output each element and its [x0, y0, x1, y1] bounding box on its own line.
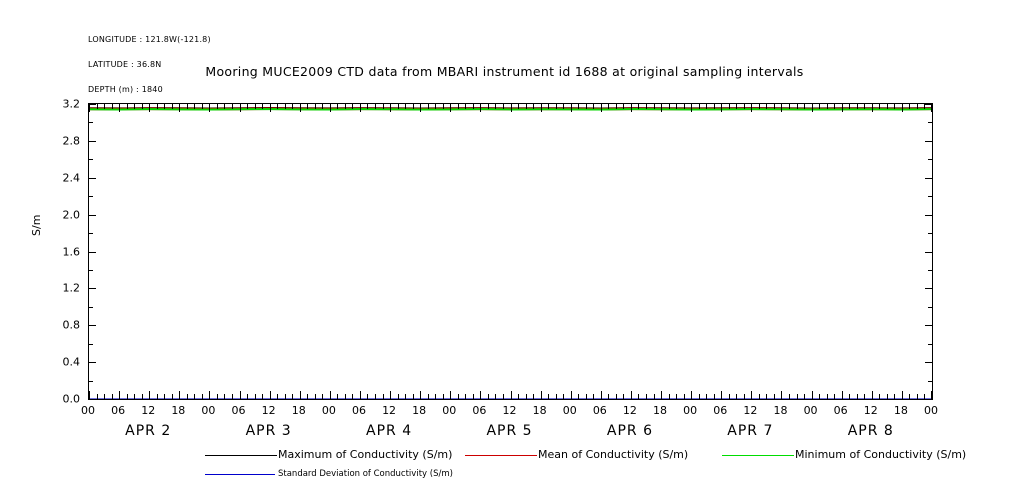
x-axis-hour-label: 12 [864, 404, 878, 417]
y-axis-minor-tick [89, 381, 93, 382]
x-axis-minor-tick [375, 394, 376, 399]
x-axis-minor-tick [413, 394, 414, 399]
x-axis-major-tick [751, 391, 752, 399]
x-axis-minor-tick [97, 104, 98, 109]
x-axis-minor-tick [443, 104, 444, 109]
y-axis-tick-label: 1.6 [63, 245, 81, 258]
x-axis-minor-tick [766, 104, 767, 109]
x-axis-minor-tick [104, 394, 105, 399]
x-axis-major-tick [661, 104, 662, 112]
x-axis-minor-tick [164, 104, 165, 109]
x-axis-hour-label: 18 [292, 404, 306, 417]
x-axis-minor-tick [533, 104, 534, 109]
x-axis-minor-tick [503, 394, 504, 399]
x-axis-major-tick [631, 104, 632, 112]
x-axis-minor-tick [352, 104, 353, 109]
x-axis-hour-label: 18 [773, 404, 787, 417]
x-axis-day-label: APR 8 [848, 423, 894, 439]
x-axis-minor-tick [232, 104, 233, 109]
x-axis-minor-tick [669, 394, 670, 399]
x-axis-minor-tick [706, 394, 707, 399]
x-axis-minor-tick [488, 104, 489, 109]
x-axis-minor-tick [345, 394, 346, 399]
x-axis-minor-tick [699, 394, 700, 399]
x-axis-minor-tick [247, 104, 248, 109]
x-axis-minor-tick [789, 394, 790, 399]
legend-item: Standard Deviation of Conductivity (S/m) [0, 467, 1009, 481]
x-axis-minor-tick [894, 104, 895, 109]
x-axis-major-tick [420, 104, 421, 112]
x-axis-minor-tick [398, 104, 399, 109]
x-axis-minor-tick [172, 394, 173, 399]
x-axis-major-tick [270, 104, 271, 112]
x-axis-minor-tick [164, 394, 165, 399]
x-axis-hour-label: 06 [232, 404, 246, 417]
x-axis-minor-tick [413, 104, 414, 109]
x-axis-minor-tick [917, 394, 918, 399]
y-axis-major-tick [925, 215, 932, 216]
x-axis-major-tick [571, 104, 572, 112]
x-axis-minor-tick [473, 394, 474, 399]
x-axis-major-tick [812, 104, 813, 112]
x-axis-minor-tick [443, 394, 444, 399]
x-axis-minor-tick [232, 394, 233, 399]
x-axis-major-tick [691, 391, 692, 399]
y-axis-major-tick [925, 178, 932, 179]
y-axis-minor-tick [89, 159, 93, 160]
plot-area [88, 103, 933, 400]
x-axis-minor-tick [202, 394, 203, 399]
x-axis-major-tick [721, 104, 722, 112]
x-axis-minor-tick [646, 104, 647, 109]
x-axis-major-tick [631, 391, 632, 399]
y-axis-minor-tick [928, 307, 932, 308]
x-axis-major-tick [842, 104, 843, 112]
x-axis-minor-tick [383, 104, 384, 109]
x-axis-minor-tick [857, 394, 858, 399]
legend-item: Minimum of Conductivity (S/m) [0, 448, 1009, 462]
chart-legend: Maximum of Conductivity (S/m)Mean of Con… [0, 445, 1009, 491]
y-axis-tick-label: 0.4 [63, 356, 81, 369]
x-axis-minor-tick [676, 104, 677, 109]
x-axis-minor-tick [322, 394, 323, 399]
x-axis-major-tick [751, 104, 752, 112]
x-axis-minor-tick [819, 104, 820, 109]
x-axis-minor-tick [277, 104, 278, 109]
x-axis-minor-tick [202, 104, 203, 109]
x-axis-minor-tick [736, 104, 737, 109]
x-axis-hour-label: 12 [141, 404, 155, 417]
x-axis-minor-tick [262, 104, 263, 109]
x-axis-major-tick [812, 391, 813, 399]
x-axis-major-tick [209, 391, 210, 399]
x-axis-hour-label: 12 [503, 404, 517, 417]
x-axis-minor-tick [849, 394, 850, 399]
x-axis-hour-label: 12 [382, 404, 396, 417]
x-axis-minor-tick [669, 104, 670, 109]
y-axis-major-tick [89, 104, 96, 105]
x-axis-minor-tick [473, 104, 474, 109]
x-axis-minor-tick [638, 394, 639, 399]
x-axis-minor-tick [638, 104, 639, 109]
metadata-depth: DEPTH (m) : 1840 [88, 86, 211, 94]
x-axis-minor-tick [699, 104, 700, 109]
x-axis-hour-label: 18 [533, 404, 547, 417]
x-axis-minor-tick [315, 394, 316, 399]
x-axis-major-tick [541, 104, 542, 112]
x-axis-minor-tick [405, 104, 406, 109]
x-axis-minor-tick [924, 394, 925, 399]
x-axis-minor-tick [623, 394, 624, 399]
x-axis-hour-label: 00 [81, 404, 95, 417]
x-axis-day-label: APR 7 [727, 423, 773, 439]
y-axis-major-tick [925, 288, 932, 289]
y-axis-tick-label: 2.4 [63, 171, 81, 184]
x-axis-minor-tick [172, 104, 173, 109]
x-axis-minor-tick [827, 394, 828, 399]
x-axis-minor-tick [262, 394, 263, 399]
x-axis-major-tick [601, 104, 602, 112]
x-axis-minor-tick [593, 104, 594, 109]
y-axis-tick-label: 3.2 [63, 98, 81, 111]
x-axis-major-tick [721, 391, 722, 399]
y-axis-minor-tick [928, 344, 932, 345]
y-axis-minor-tick [89, 344, 93, 345]
y-axis-tick-label: 0.8 [63, 319, 81, 332]
x-axis-major-tick [601, 391, 602, 399]
x-axis-minor-tick [104, 104, 105, 109]
x-axis-major-tick [300, 391, 301, 399]
x-axis-minor-tick [255, 394, 256, 399]
x-axis-minor-tick [465, 394, 466, 399]
x-axis-minor-tick [142, 394, 143, 399]
x-axis-major-tick [330, 391, 331, 399]
x-axis-minor-tick [112, 104, 113, 109]
x-axis-minor-tick [285, 104, 286, 109]
x-axis-minor-tick [804, 104, 805, 109]
x-axis-minor-tick [563, 394, 564, 399]
x-axis-hour-label: 18 [171, 404, 185, 417]
x-axis-major-tick [149, 104, 150, 112]
y-axis-major-tick [89, 178, 96, 179]
x-axis-hour-label: 18 [894, 404, 908, 417]
x-axis-minor-tick [157, 104, 158, 109]
x-axis-hour-label: 00 [683, 404, 697, 417]
x-axis-minor-tick [465, 104, 466, 109]
x-axis-major-tick [420, 391, 421, 399]
chart-title: Mooring MUCE2009 CTD data from MBARI ins… [0, 64, 1009, 79]
x-axis-major-tick [450, 104, 451, 112]
x-axis-minor-tick [864, 104, 865, 109]
x-axis-hour-label: 00 [804, 404, 818, 417]
x-axis-day-label: APR 2 [125, 423, 171, 439]
y-axis-minor-tick [928, 159, 932, 160]
x-axis-minor-tick [217, 104, 218, 109]
x-axis-major-tick [119, 391, 120, 399]
y-axis-major-tick [925, 325, 932, 326]
x-axis-major-tick [450, 391, 451, 399]
x-axis-minor-tick [654, 104, 655, 109]
x-axis-minor-tick [894, 394, 895, 399]
x-axis-minor-tick [255, 104, 256, 109]
y-axis-tick-label: 0.0 [63, 393, 81, 406]
x-axis-day-label: APR 3 [246, 423, 292, 439]
x-axis-minor-tick [428, 104, 429, 109]
x-axis-hour-label: 18 [412, 404, 426, 417]
x-axis-minor-tick [556, 104, 557, 109]
x-axis-major-tick [902, 104, 903, 112]
x-axis-minor-tick [819, 394, 820, 399]
x-axis-major-tick [872, 391, 873, 399]
x-axis-minor-tick [766, 394, 767, 399]
x-axis-major-tick [842, 391, 843, 399]
x-axis-hour-label: 06 [593, 404, 607, 417]
y-axis-minor-tick [89, 307, 93, 308]
x-axis-hour-label: 00 [563, 404, 577, 417]
x-axis-major-tick [511, 391, 512, 399]
x-axis-major-tick [902, 391, 903, 399]
x-axis-hour-label: 18 [653, 404, 667, 417]
x-axis-major-tick [360, 391, 361, 399]
x-axis-major-tick [360, 104, 361, 112]
x-axis-hour-label: 00 [924, 404, 938, 417]
x-axis-major-tick [661, 391, 662, 399]
x-axis-minor-tick [405, 394, 406, 399]
y-axis-major-tick [925, 141, 932, 142]
x-axis-minor-tick [127, 394, 128, 399]
x-axis-minor-tick [194, 104, 195, 109]
x-axis-minor-tick [879, 104, 880, 109]
y-axis-major-tick [89, 288, 96, 289]
x-axis-hour-label: 06 [352, 404, 366, 417]
x-axis-minor-tick [654, 394, 655, 399]
y-axis-minor-tick [928, 233, 932, 234]
x-axis-hour-label: 12 [623, 404, 637, 417]
x-axis-minor-tick [435, 104, 436, 109]
x-axis-hour-label: 06 [472, 404, 486, 417]
x-axis-minor-tick [887, 394, 888, 399]
y-axis-tick-label: 2.8 [63, 134, 81, 147]
x-axis-minor-tick [623, 104, 624, 109]
x-axis-minor-tick [714, 394, 715, 399]
x-axis-minor-tick [804, 394, 805, 399]
x-axis-major-tick [390, 104, 391, 112]
x-axis-major-tick [179, 104, 180, 112]
x-axis-minor-tick [857, 104, 858, 109]
x-axis-major-tick [691, 104, 692, 112]
x-axis-minor-tick [736, 394, 737, 399]
x-axis-major-tick [781, 391, 782, 399]
x-axis-hour-label: 00 [322, 404, 336, 417]
x-axis-major-tick [270, 391, 271, 399]
x-axis-minor-tick [616, 104, 617, 109]
x-axis-minor-tick [586, 104, 587, 109]
x-axis-major-tick [149, 391, 150, 399]
x-axis-minor-tick [307, 394, 308, 399]
x-axis-minor-tick [134, 394, 135, 399]
y-axis-minor-tick [89, 233, 93, 234]
x-axis-minor-tick [383, 394, 384, 399]
y-axis-minor-tick [89, 270, 93, 271]
x-axis-minor-tick [503, 104, 504, 109]
x-axis-major-tick [931, 104, 932, 112]
x-axis-minor-tick [774, 104, 775, 109]
x-axis-minor-tick [849, 104, 850, 109]
x-axis-minor-tick [909, 104, 910, 109]
x-axis-minor-tick [556, 394, 557, 399]
x-axis-minor-tick [533, 394, 534, 399]
x-axis-minor-tick [834, 104, 835, 109]
x-axis-minor-tick [352, 394, 353, 399]
x-axis-minor-tick [187, 104, 188, 109]
x-axis-minor-tick [827, 104, 828, 109]
x-axis-major-tick [330, 104, 331, 112]
x-axis-minor-tick [292, 104, 293, 109]
x-axis-hour-label: 00 [442, 404, 456, 417]
x-axis-minor-tick [864, 394, 865, 399]
y-axis-major-tick [89, 325, 96, 326]
legend-label: Minimum of Conductivity (S/m) [795, 448, 966, 461]
x-axis-minor-tick [194, 394, 195, 399]
x-axis-hour-label: 06 [111, 404, 125, 417]
x-axis-major-tick [571, 391, 572, 399]
y-axis-minor-tick [89, 122, 93, 123]
x-axis-minor-tick [398, 394, 399, 399]
x-axis-minor-tick [563, 104, 564, 109]
x-axis-minor-tick [458, 394, 459, 399]
x-axis-minor-tick [924, 104, 925, 109]
x-axis-minor-tick [526, 104, 527, 109]
x-axis-minor-tick [367, 394, 368, 399]
x-axis-major-tick [300, 104, 301, 112]
x-axis-major-tick [240, 104, 241, 112]
x-axis-major-tick [209, 104, 210, 112]
x-axis-major-tick [541, 391, 542, 399]
x-axis-minor-tick [714, 104, 715, 109]
x-axis-minor-tick [729, 104, 730, 109]
x-axis-minor-tick [608, 394, 609, 399]
y-axis-tick-labels: 0.00.40.81.21.62.02.42.83.2 [40, 103, 80, 400]
y-axis-major-tick [89, 362, 96, 363]
legend-label: Standard Deviation of Conductivity (S/m) [278, 469, 453, 479]
x-axis-minor-tick [608, 104, 609, 109]
y-axis-minor-tick [928, 381, 932, 382]
x-axis-minor-tick [676, 394, 677, 399]
x-axis-minor-tick [759, 394, 760, 399]
x-axis-day-labels: APR 2APR 3APR 4APR 5APR 6APR 7APR 8 [88, 423, 933, 441]
y-axis-tick-label: 2.0 [63, 208, 81, 221]
x-axis-minor-tick [337, 394, 338, 399]
y-axis-minor-tick [928, 122, 932, 123]
x-axis-major-tick [931, 391, 932, 399]
x-axis-minor-tick [744, 394, 745, 399]
x-axis-minor-tick [428, 394, 429, 399]
x-axis-minor-tick [495, 394, 496, 399]
metadata-longitude: LONGITUDE : 121.8W(-121.8) [88, 36, 211, 44]
x-axis-minor-tick [127, 104, 128, 109]
x-axis-major-tick [390, 391, 391, 399]
x-axis-major-tick [872, 104, 873, 112]
x-axis-minor-tick [774, 394, 775, 399]
x-axis-minor-tick [458, 104, 459, 109]
legend-color-swatch [205, 474, 275, 475]
x-axis-major-tick [781, 104, 782, 112]
legend-color-swatch [722, 455, 794, 456]
x-axis-hour-label: 12 [262, 404, 276, 417]
x-axis-minor-tick [879, 394, 880, 399]
x-axis-day-label: APR 6 [607, 423, 653, 439]
x-axis-minor-tick [224, 104, 225, 109]
x-axis-hour-label: 06 [713, 404, 727, 417]
y-axis-major-tick [89, 252, 96, 253]
x-axis-major-tick [119, 104, 120, 112]
x-axis-minor-tick [834, 394, 835, 399]
data-series-group [89, 104, 932, 399]
x-axis-minor-tick [797, 104, 798, 109]
x-axis-minor-tick [759, 104, 760, 109]
x-axis-minor-tick [917, 104, 918, 109]
plot-canvas [89, 104, 932, 399]
x-axis-minor-tick [435, 394, 436, 399]
x-axis-minor-tick [315, 104, 316, 109]
x-axis-minor-tick [744, 104, 745, 109]
x-axis-hour-label: 06 [834, 404, 848, 417]
x-axis-major-tick [89, 104, 90, 112]
x-axis-minor-tick [322, 104, 323, 109]
x-axis-minor-tick [518, 104, 519, 109]
x-axis-minor-tick [706, 104, 707, 109]
x-axis-minor-tick [217, 394, 218, 399]
x-axis-minor-tick [684, 394, 685, 399]
x-axis-minor-tick [97, 394, 98, 399]
x-axis-minor-tick [112, 394, 113, 399]
x-axis-hour-label: 00 [201, 404, 215, 417]
x-axis-major-tick [480, 104, 481, 112]
x-axis-minor-tick [375, 104, 376, 109]
x-axis-major-tick [511, 104, 512, 112]
x-axis-minor-tick [157, 394, 158, 399]
y-axis-major-tick [89, 141, 96, 142]
x-axis-major-tick [179, 391, 180, 399]
x-axis-hour-labels: 0006121800061218000612180006121800061218… [88, 404, 933, 418]
y-axis-major-tick [925, 252, 932, 253]
x-axis-minor-tick [495, 104, 496, 109]
x-axis-minor-tick [247, 394, 248, 399]
x-axis-minor-tick [224, 394, 225, 399]
x-axis-day-label: APR 4 [366, 423, 412, 439]
x-axis-minor-tick [526, 394, 527, 399]
x-axis-minor-tick [684, 104, 685, 109]
x-axis-minor-tick [134, 104, 135, 109]
y-axis-minor-tick [928, 196, 932, 197]
y-axis-tick-label: 1.2 [63, 282, 81, 295]
x-axis-minor-tick [797, 394, 798, 399]
x-axis-minor-tick [578, 394, 579, 399]
x-axis-day-label: APR 5 [486, 423, 532, 439]
x-axis-minor-tick [586, 394, 587, 399]
x-axis-minor-tick [518, 394, 519, 399]
x-axis-minor-tick [367, 104, 368, 109]
y-axis-minor-tick [89, 196, 93, 197]
x-axis-minor-tick [142, 104, 143, 109]
x-axis-minor-tick [292, 394, 293, 399]
x-axis-minor-tick [729, 394, 730, 399]
x-axis-minor-tick [578, 104, 579, 109]
x-axis-minor-tick [887, 104, 888, 109]
x-axis-major-tick [89, 391, 90, 399]
y-axis-major-tick [925, 362, 932, 363]
x-axis-hour-label: 12 [743, 404, 757, 417]
